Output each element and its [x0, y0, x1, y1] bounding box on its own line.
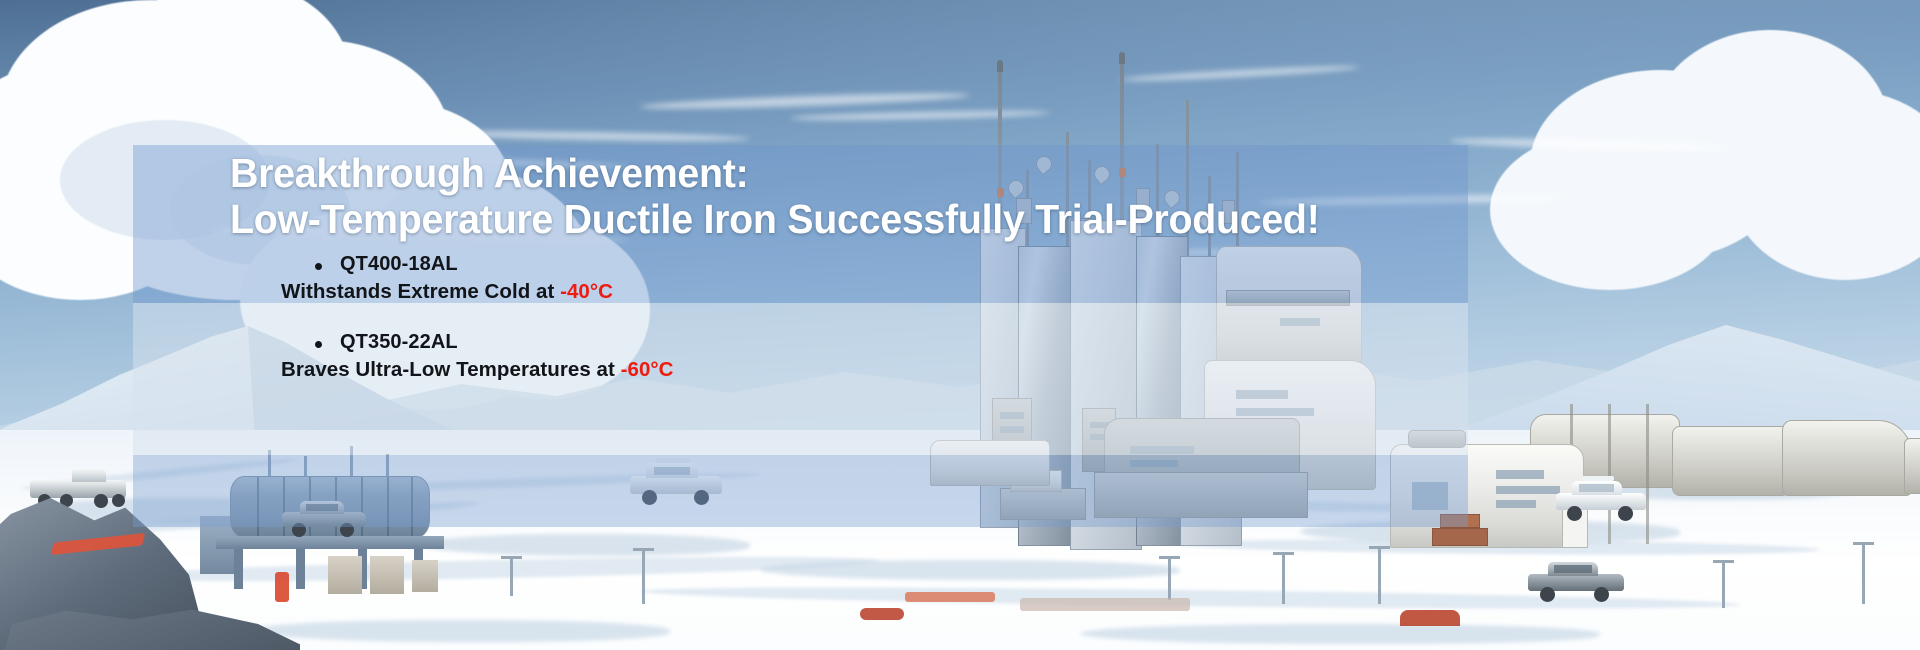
pipeline-silo-row — [1530, 404, 1920, 544]
bullet-description: Braves Ultra-Low Temperatures at -60°C — [281, 357, 1468, 382]
temperature-value: -40°C — [560, 280, 613, 303]
utility-pole — [1722, 560, 1725, 608]
banner-title: Breakthrough Achievement: Low-Temperatur… — [133, 150, 1415, 242]
bullet-row: QT350-22AL — [281, 330, 1468, 354]
bullet-item-qt350: QT350-22AL Braves Ultra-Low Temperatures… — [281, 330, 1468, 382]
bullet-dot-icon — [315, 341, 322, 348]
bullet-dot-icon — [315, 263, 322, 270]
bullet-item-qt400: QT400-18AL Withstands Extreme Cold at -4… — [281, 252, 1468, 304]
title-line-1: Breakthrough Achievement: — [230, 150, 1415, 196]
bullet-description: Withstands Extreme Cold at -40°C — [281, 279, 1468, 304]
banner-image: Breakthrough Achievement: Low-Temperatur… — [0, 0, 1920, 650]
temperature-value: -60°C — [621, 358, 674, 381]
bullet-row: QT400-18AL — [281, 252, 1468, 276]
text-overlay: Breakthrough Achievement: Low-Temperatur… — [133, 0, 1468, 650]
utility-pole — [1862, 542, 1865, 604]
suv-white-right — [1556, 478, 1646, 518]
banner-bullet-list: QT400-18AL Withstands Extreme Cold at -4… — [133, 252, 1468, 408]
grade-label: QT350-22AL — [340, 330, 458, 354]
grade-label: QT400-18AL — [340, 252, 458, 276]
description-text: Withstands Extreme Cold at — [281, 280, 560, 303]
title-line-2: Low-Temperature Ductile Iron Successfull… — [230, 196, 1415, 242]
description-text: Braves Ultra-Low Temperatures at — [281, 358, 621, 381]
snow-truck — [30, 468, 126, 504]
car-dark-right — [1528, 560, 1624, 598]
overlay-band-foot — [133, 455, 1468, 527]
